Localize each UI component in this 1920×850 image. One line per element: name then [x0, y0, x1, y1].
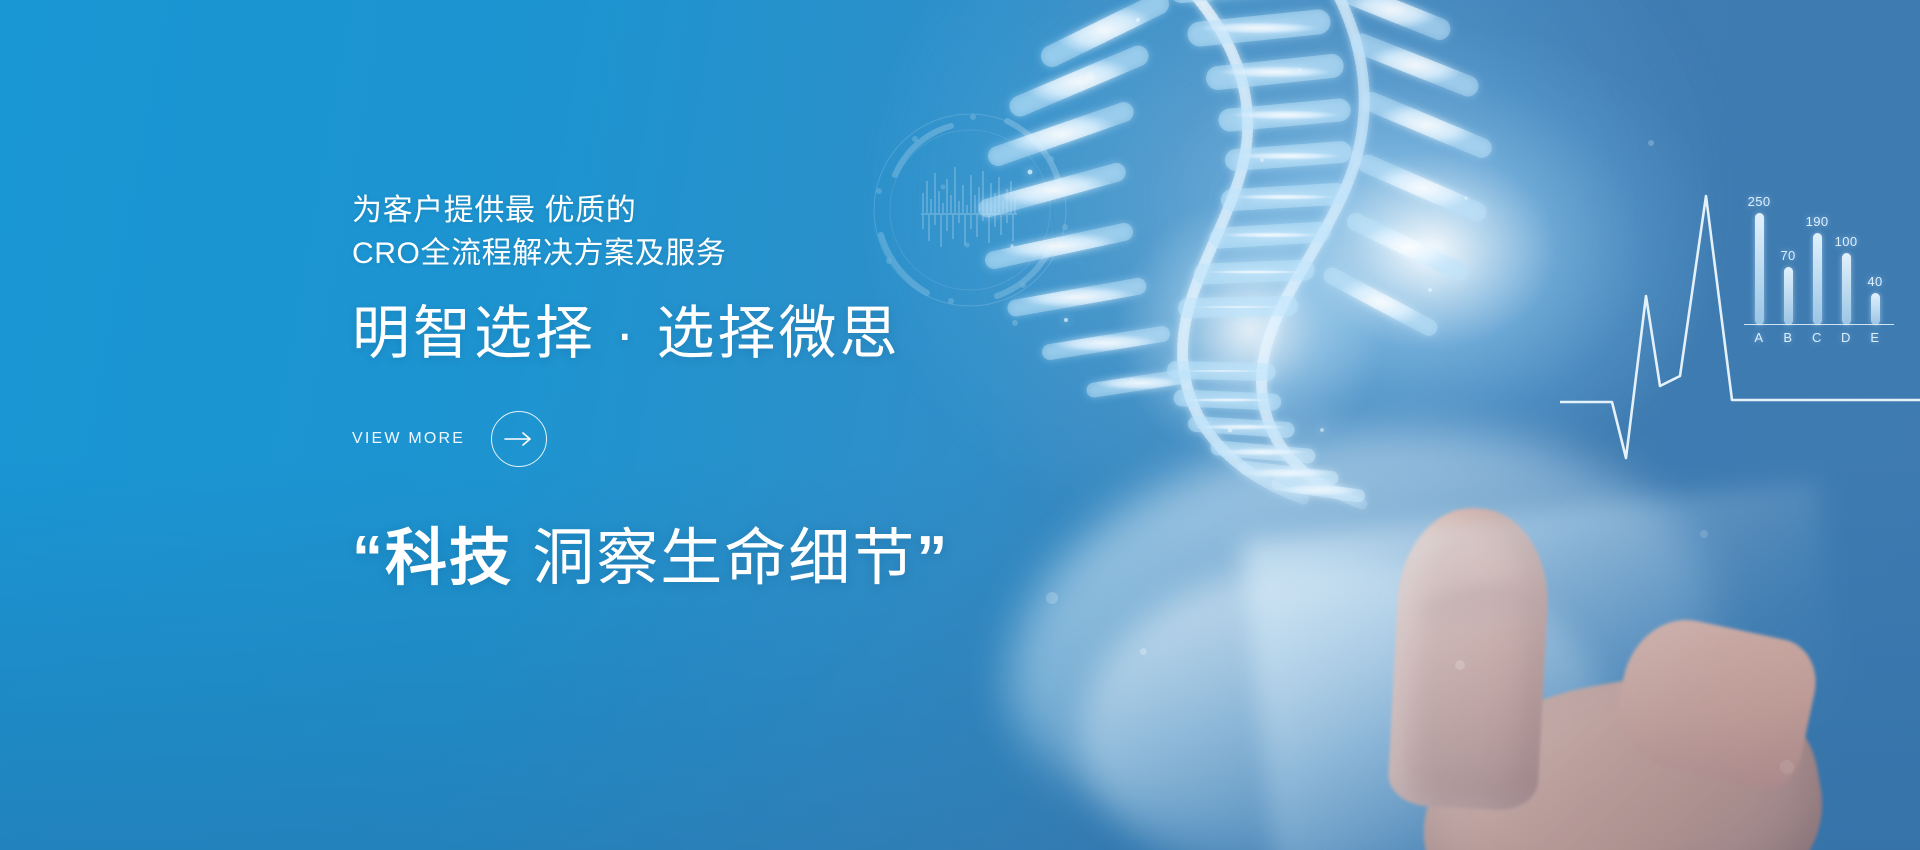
bar-e: [1871, 293, 1880, 325]
chart-axis-line: [1744, 324, 1894, 325]
chart-category-labels: A B C D E: [1744, 330, 1894, 352]
quote-open-mark: “: [352, 524, 385, 593]
arrow-right-icon[interactable]: [491, 411, 547, 467]
category-label-a: A: [1748, 330, 1770, 345]
hero-content: 为客户提供最 优质的 CRO全流程解决方案及服务 明智选择 · 选择微思 VIE…: [352, 190, 1172, 593]
view-more-button[interactable]: VIEW MORE: [352, 411, 547, 467]
bar-value-a: 250: [1748, 195, 1771, 208]
bar-value-c: 190: [1806, 215, 1829, 228]
bar-c: [1813, 233, 1822, 325]
bokeh-dot: [1455, 660, 1465, 670]
hero-headline: 明智选择 · 选择微思: [352, 301, 1172, 367]
bar-group-b: 70: [1777, 185, 1799, 325]
quote-emphasis: 科技: [385, 524, 513, 593]
hero-subtitle-line1: 为客户提供最 优质的: [352, 194, 636, 227]
bar-group-c: 190: [1806, 185, 1828, 325]
hand-touching-icon: [1274, 514, 1826, 850]
bar-b: [1784, 267, 1793, 325]
bokeh-dot: [1780, 760, 1794, 774]
index-finger: [1387, 504, 1552, 811]
category-label-b: B: [1777, 330, 1799, 345]
mini-bar-chart: 250 70 190 100 40 A B C: [1744, 185, 1894, 375]
bar-group-a: 250: [1748, 185, 1770, 325]
bokeh-dot: [1648, 140, 1654, 146]
category-label-e: E: [1864, 330, 1886, 345]
hero-quote: “科技 洞察生命细节”: [352, 525, 1172, 593]
bar-chart-plot: 250 70 190 100 40: [1744, 185, 1894, 325]
quote-close-mark: ”: [916, 524, 949, 593]
bokeh-dot: [1086, 72, 1095, 81]
category-label-c: C: [1806, 330, 1828, 345]
bar-value-d: 100: [1835, 235, 1858, 248]
bokeh-dot: [1140, 648, 1147, 655]
bar-value-e: 40: [1867, 275, 1882, 288]
bar-group-d: 100: [1835, 185, 1857, 325]
bar-value-b: 70: [1780, 249, 1795, 262]
view-more-label: VIEW MORE: [352, 430, 465, 448]
bar-a: [1755, 213, 1764, 325]
bar-d: [1842, 253, 1851, 325]
hero-subtitle-line2: CRO全流程解决方案及服务: [352, 233, 1172, 276]
hero-subtitle: 为客户提供最 优质的 CRO全流程解决方案及服务: [352, 190, 1172, 275]
bar-group-e: 40: [1864, 185, 1886, 325]
category-label-d: D: [1835, 330, 1857, 345]
bokeh-dot: [1046, 592, 1058, 604]
quote-text: 洞察生命细节: [513, 524, 916, 593]
hero-banner: 250 70 190 100 40 A B C: [0, 0, 1920, 850]
bokeh-dot: [1700, 530, 1708, 538]
